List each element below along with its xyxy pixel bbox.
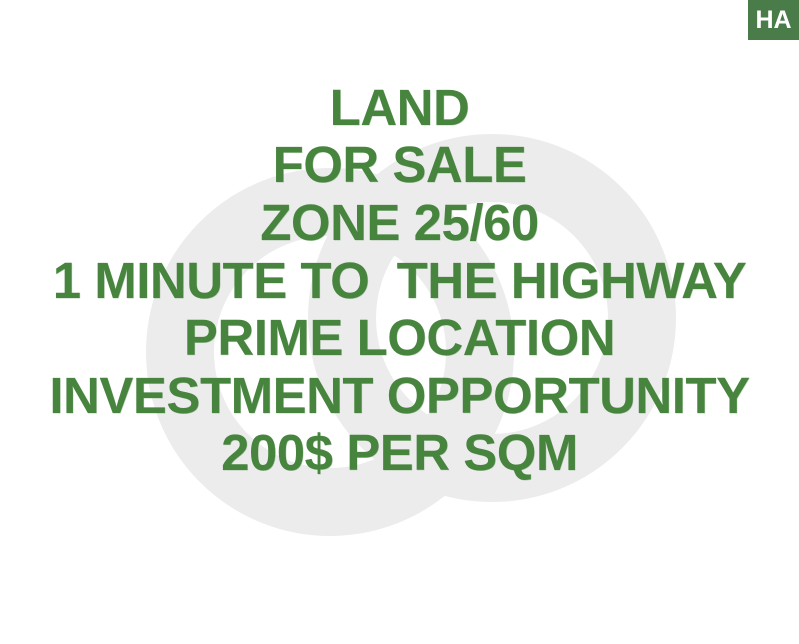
headline-line-zoning: ZONE 25/60 <box>0 197 799 255</box>
headline-line-location: PRIME LOCATION <box>0 312 799 370</box>
headline-line-property-type: LAND <box>0 82 799 139</box>
headline-line-status: FOR SALE <box>0 139 799 197</box>
headline-block: LAND FOR SALE ZONE 25/60 1 MINUTE TO THE… <box>0 82 799 484</box>
headline-line-price: 200$ PER SQM <box>0 427 799 484</box>
headline-line-proximity: 1 MINUTE TO THE HIGHWAY <box>0 255 799 312</box>
headline-line-investment: INVESTMENT OPPORTUNITY <box>0 370 799 427</box>
listing-poster: LAND FOR SALE ZONE 25/60 1 MINUTE TO THE… <box>0 0 799 644</box>
brand-badge-label: HA <box>755 8 791 33</box>
brand-badge: HA <box>748 0 799 40</box>
